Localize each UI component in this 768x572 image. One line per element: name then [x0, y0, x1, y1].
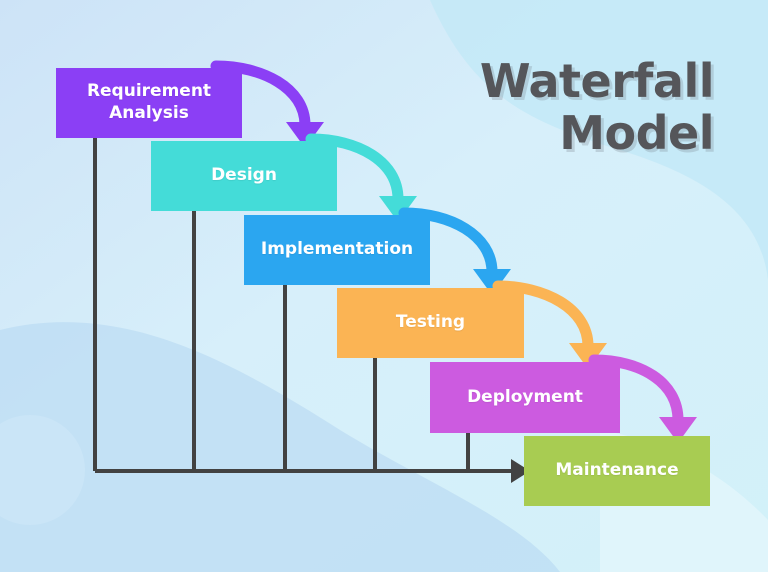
stage-box-label: Requirement Analysis [87, 81, 211, 125]
stage-box-testing[interactable]: Testing [337, 288, 524, 358]
stage-box-label: Testing [396, 312, 465, 334]
stage-box-implementation[interactable]: Implementation [244, 215, 430, 285]
stage-box-label: Deployment [467, 387, 583, 409]
stage-box-maintenance[interactable]: Maintenance [524, 436, 710, 506]
waterfall-diagram-canvas: Waterfall Model Requirement AnalysisDesi… [0, 0, 768, 572]
stage-box-label: Implementation [261, 239, 413, 261]
page-title: Waterfall Model [294, 56, 714, 159]
stage-box-deployment[interactable]: Deployment [430, 362, 620, 433]
stage-box-requirement-analysis[interactable]: Requirement Analysis [56, 68, 242, 138]
stage-box-design[interactable]: Design [151, 141, 337, 211]
stage-box-label: Design [211, 165, 277, 187]
stage-box-label: Maintenance [555, 460, 678, 482]
